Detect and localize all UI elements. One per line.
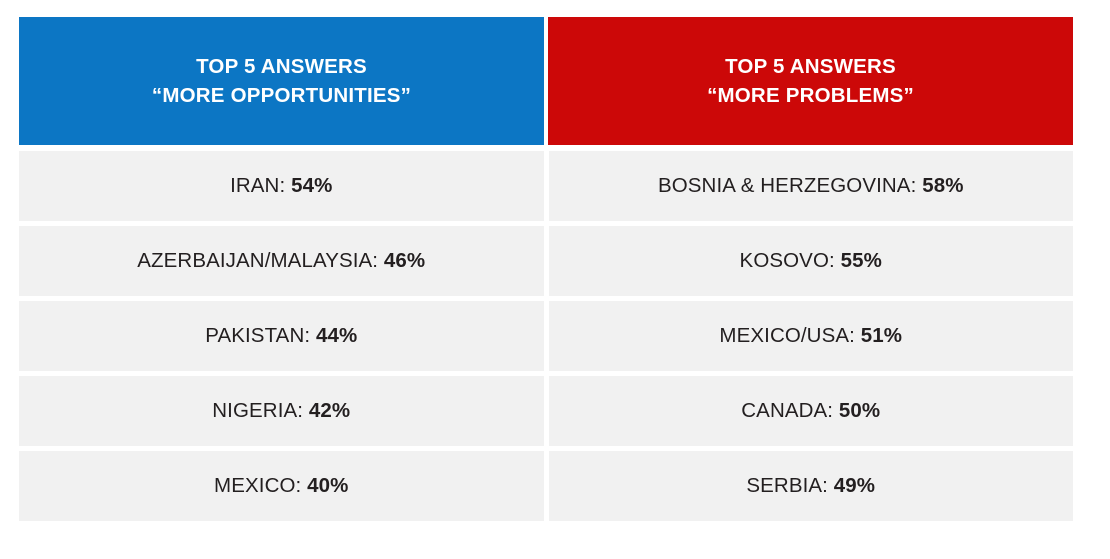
answer-label: MEXICO: xyxy=(214,474,307,497)
top-answers-table: TOP 5 ANSWERS “MORE OPPORTUNITIES” TOP 5… xyxy=(19,17,1073,527)
header-cell-more-problems: TOP 5 ANSWERS “MORE PROBLEMS” xyxy=(548,17,1073,145)
header-right-line1: TOP 5 ANSWERS xyxy=(725,52,896,81)
answer-value: 58% xyxy=(922,174,963,197)
answer-value: 51% xyxy=(861,324,902,347)
answer-value: 54% xyxy=(291,174,332,197)
header-cell-more-opportunities: TOP 5 ANSWERS “MORE OPPORTUNITIES” xyxy=(19,17,544,145)
answer-text: BOSNIA & HERZEGOVINA: 58% xyxy=(658,174,964,198)
answer-label: SERBIA: xyxy=(746,474,833,497)
answer-text: SERBIA: 49% xyxy=(746,474,875,498)
answer-cell-opportunities-5: MEXICO: 40% xyxy=(19,451,544,521)
answer-cell-problems-2: KOSOVO: 55% xyxy=(549,226,1074,296)
header-right-line2: “MORE PROBLEMS” xyxy=(707,81,914,110)
answer-label: BOSNIA & HERZEGOVINA: xyxy=(658,174,922,197)
answer-text: CANADA: 50% xyxy=(741,399,880,423)
table-row: PAKISTAN: 44% MEXICO/USA: 51% xyxy=(19,301,1073,371)
answer-value: 42% xyxy=(309,399,350,422)
answer-label: IRAN: xyxy=(230,174,291,197)
answer-cell-problems-5: SERBIA: 49% xyxy=(549,451,1074,521)
answer-text: PAKISTAN: 44% xyxy=(205,324,357,348)
answer-cell-problems-3: MEXICO/USA: 51% xyxy=(549,301,1074,371)
answer-cell-opportunities-1: IRAN: 54% xyxy=(19,151,544,221)
answer-label: CANADA: xyxy=(741,399,839,422)
answer-cell-problems-4: CANADA: 50% xyxy=(549,376,1074,446)
table-header-row: TOP 5 ANSWERS “MORE OPPORTUNITIES” TOP 5… xyxy=(19,17,1073,145)
table-row: MEXICO: 40% SERBIA: 49% xyxy=(19,451,1073,521)
answer-value: 50% xyxy=(839,399,880,422)
answer-label: AZERBAIJAN/MALAYSIA: xyxy=(137,249,384,272)
answer-text: IRAN: 54% xyxy=(230,174,332,198)
answer-cell-problems-1: BOSNIA & HERZEGOVINA: 58% xyxy=(549,151,1074,221)
table-body: IRAN: 54% BOSNIA & HERZEGOVINA: 58% AZER… xyxy=(19,151,1073,521)
answer-text: MEXICO/USA: 51% xyxy=(719,324,902,348)
answer-value: 46% xyxy=(384,249,425,272)
answer-value: 49% xyxy=(834,474,875,497)
answer-text: MEXICO: 40% xyxy=(214,474,348,498)
answer-text: AZERBAIJAN/MALAYSIA: 46% xyxy=(137,249,425,273)
answer-value: 55% xyxy=(841,249,882,272)
answer-label: PAKISTAN: xyxy=(205,324,316,347)
answer-cell-opportunities-2: AZERBAIJAN/MALAYSIA: 46% xyxy=(19,226,544,296)
table-row: NIGERIA: 42% CANADA: 50% xyxy=(19,376,1073,446)
answer-label: MEXICO/USA: xyxy=(719,324,860,347)
answer-text: KOSOVO: 55% xyxy=(740,249,882,273)
header-left-line2: “MORE OPPORTUNITIES” xyxy=(152,81,411,110)
answer-cell-opportunities-4: NIGERIA: 42% xyxy=(19,376,544,446)
header-left-line1: TOP 5 ANSWERS xyxy=(196,52,367,81)
answer-label: NIGERIA: xyxy=(212,399,309,422)
answer-value: 40% xyxy=(307,474,348,497)
answer-label: KOSOVO: xyxy=(740,249,841,272)
answer-cell-opportunities-3: PAKISTAN: 44% xyxy=(19,301,544,371)
answer-value: 44% xyxy=(316,324,357,347)
table-row: IRAN: 54% BOSNIA & HERZEGOVINA: 58% xyxy=(19,151,1073,221)
answer-text: NIGERIA: 42% xyxy=(212,399,350,423)
table-row: AZERBAIJAN/MALAYSIA: 46% KOSOVO: 55% xyxy=(19,226,1073,296)
